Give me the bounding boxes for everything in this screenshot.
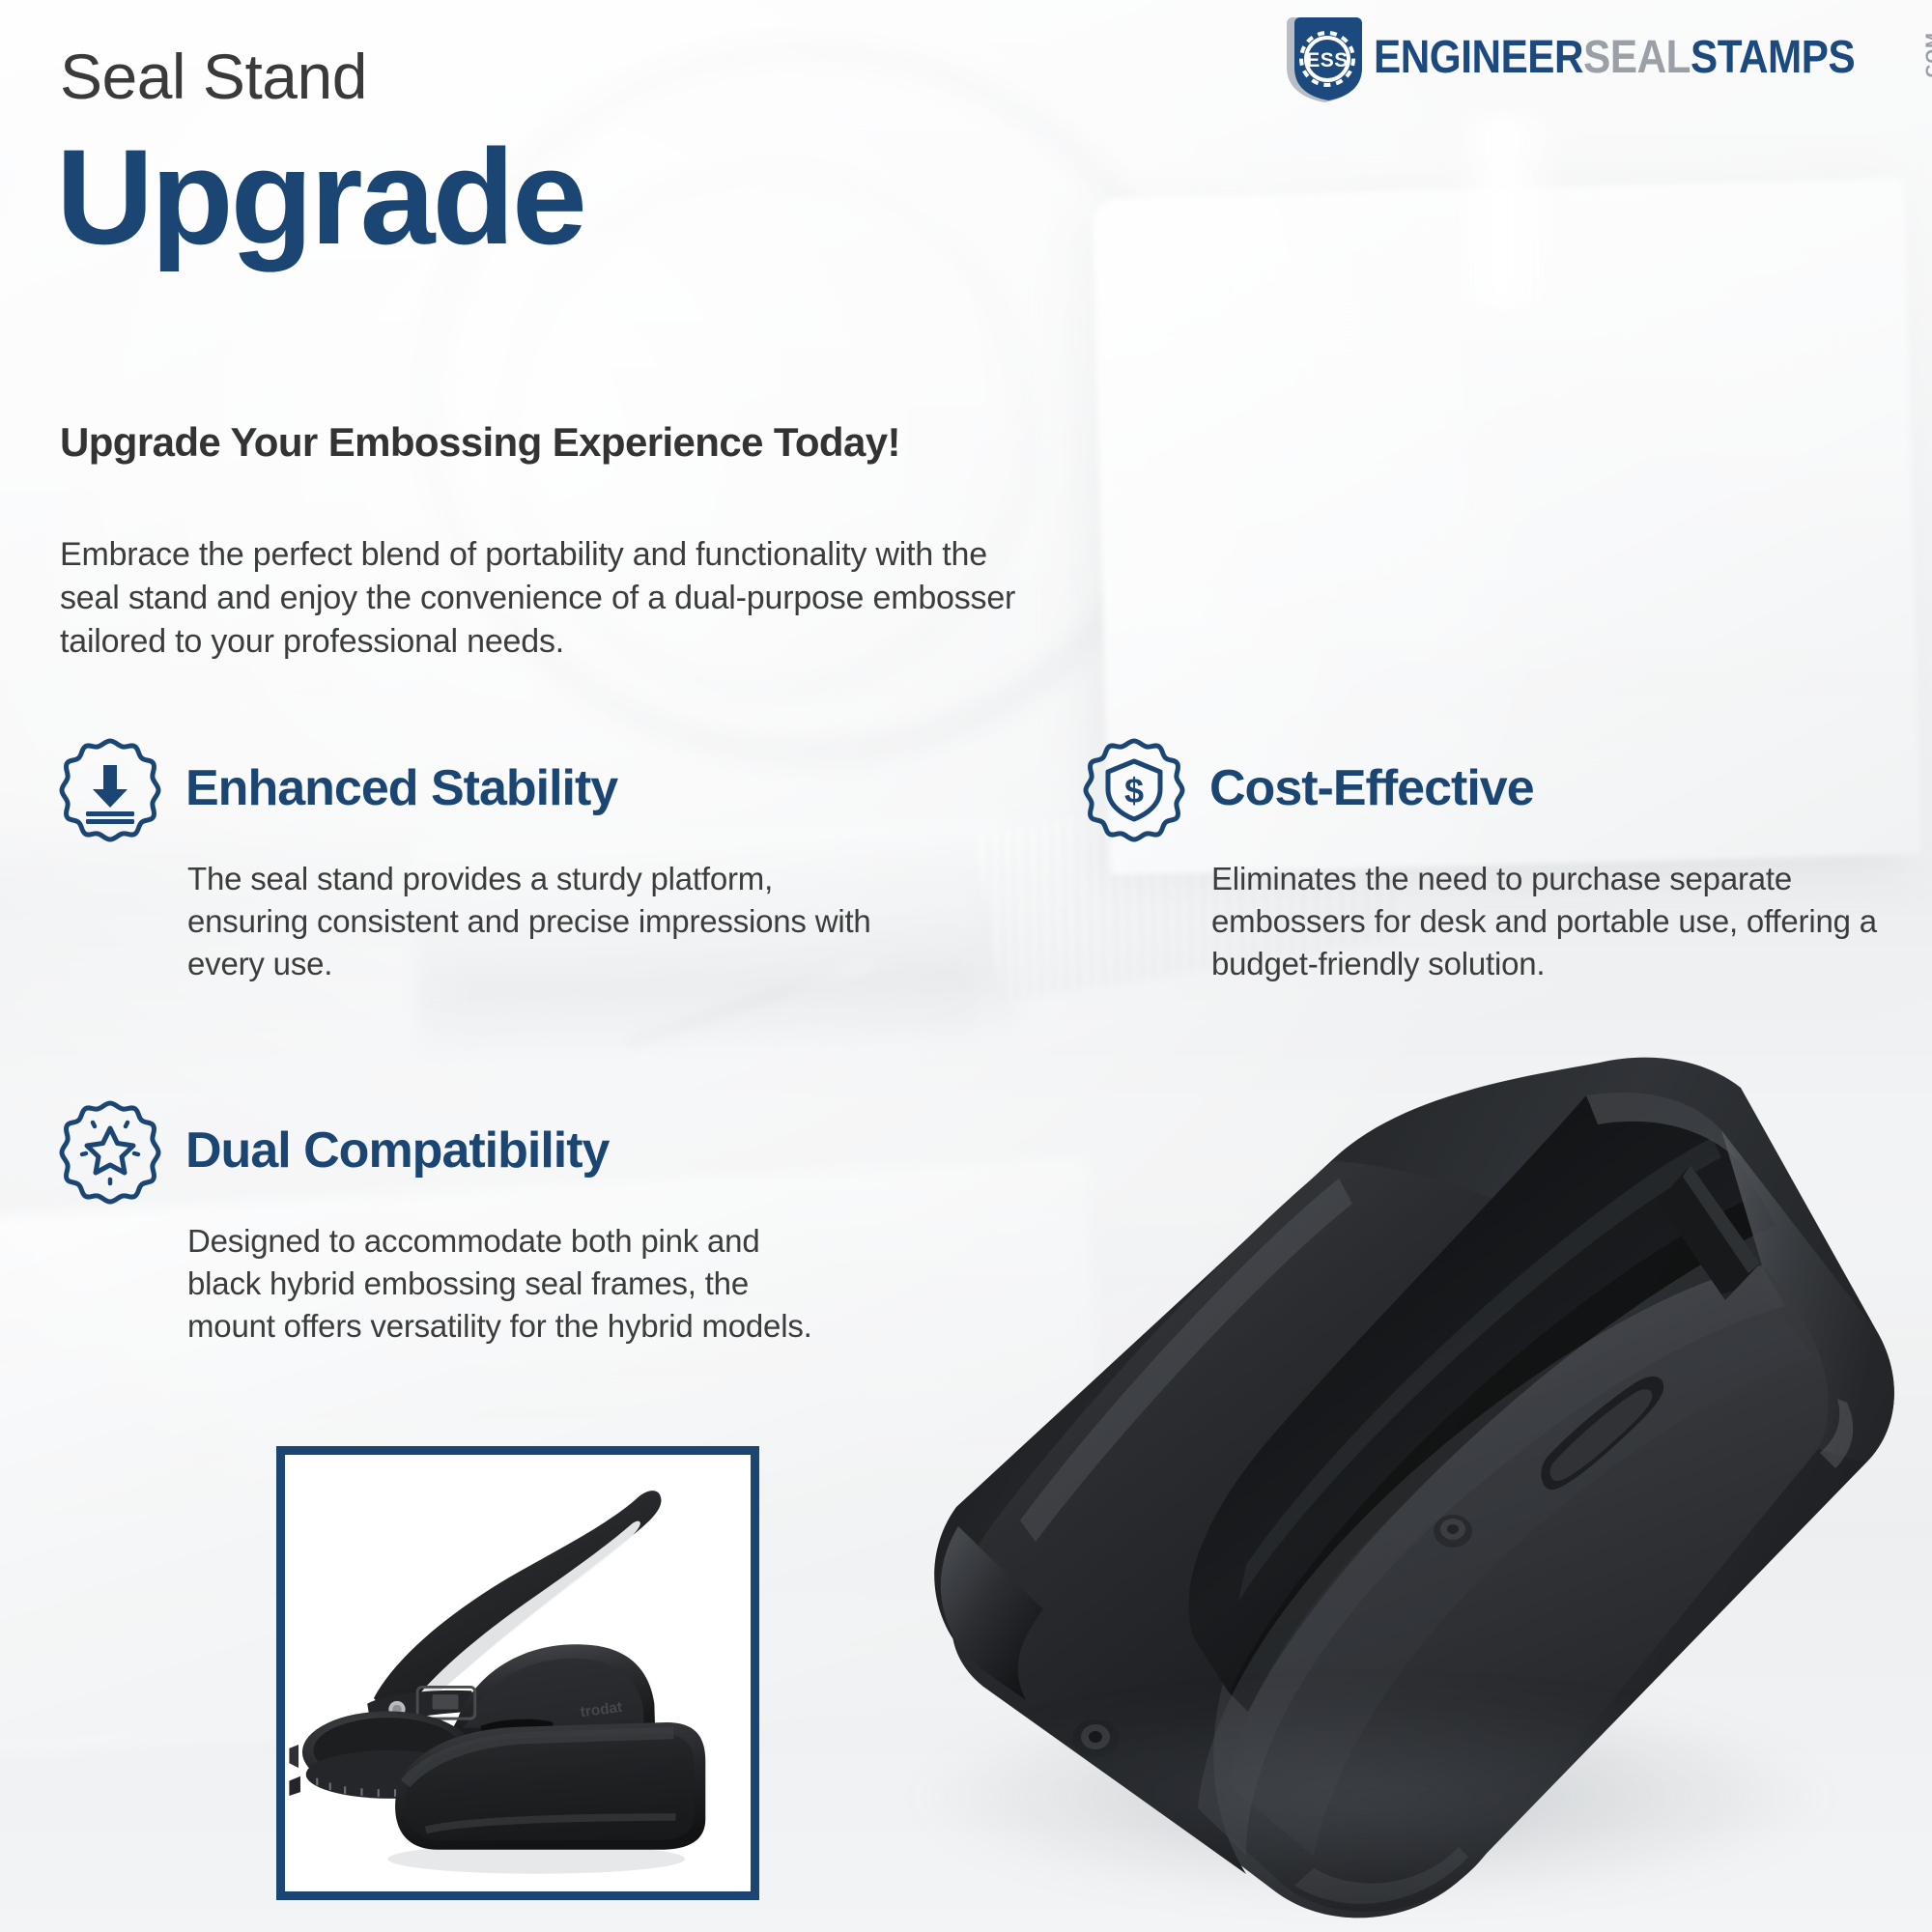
feature-description: Eliminates the need to purchase separate… (1211, 858, 1888, 985)
brand-wordmark: ENGINEERSEALSTAMPS (1374, 35, 1855, 81)
down-arrow-platform-badge-icon (56, 734, 164, 842)
feature-title: Cost-Effective (1209, 763, 1534, 813)
page-title: Upgrade (56, 129, 584, 265)
feature-description: The seal stand provides a sturdy platfor… (187, 858, 902, 985)
inset-product-photo: trodat (285, 1455, 751, 1891)
inset-product-photo-frame: trodat (276, 1446, 759, 1900)
feature-title: Dual Compatibility (185, 1125, 609, 1176)
feature-title: Enhanced Stability (185, 763, 617, 813)
svg-text:$: $ (1124, 771, 1144, 810)
hero-product-image (792, 1024, 1932, 1932)
brand-word-seal: SEAL (1583, 32, 1690, 83)
page-kicker: Seal Stand (60, 44, 367, 108)
infographic-canvas: ESS ENGINEERSEALSTAMPS .COM Seal Stand U… (0, 0, 1932, 1932)
feature-description: Designed to accommodate both pink and bl… (187, 1220, 825, 1348)
page-subheading: Upgrade Your Embossing Experience Today! (60, 422, 900, 463)
ess-gear-shield-icon: ESS (1285, 14, 1370, 102)
feature-cost-effective: $ Cost-Effective Eliminates the need to … (1080, 734, 1911, 985)
feature-header: $ Cost-Effective (1080, 734, 1911, 842)
brand-word-engineer: ENGINEER (1374, 32, 1583, 83)
brand-logo[interactable]: ESS ENGINEERSEALSTAMPS .COM (1285, 14, 1922, 102)
brand-word-dotcom: .COM (1923, 32, 1932, 84)
page-intro-paragraph: Embrace the perfect blend of portability… (60, 533, 1055, 665)
svg-text:ESS: ESS (1306, 49, 1349, 71)
feature-header: Enhanced Stability (56, 734, 906, 842)
shield-dollar-badge-icon: $ (1080, 734, 1188, 842)
hero-product-shadow (908, 1690, 1835, 1903)
sparkle-star-badge-icon (56, 1096, 164, 1205)
brand-word-stamps: STAMPS (1690, 32, 1855, 83)
feature-enhanced-stability: Enhanced Stability The seal stand provid… (56, 734, 906, 985)
